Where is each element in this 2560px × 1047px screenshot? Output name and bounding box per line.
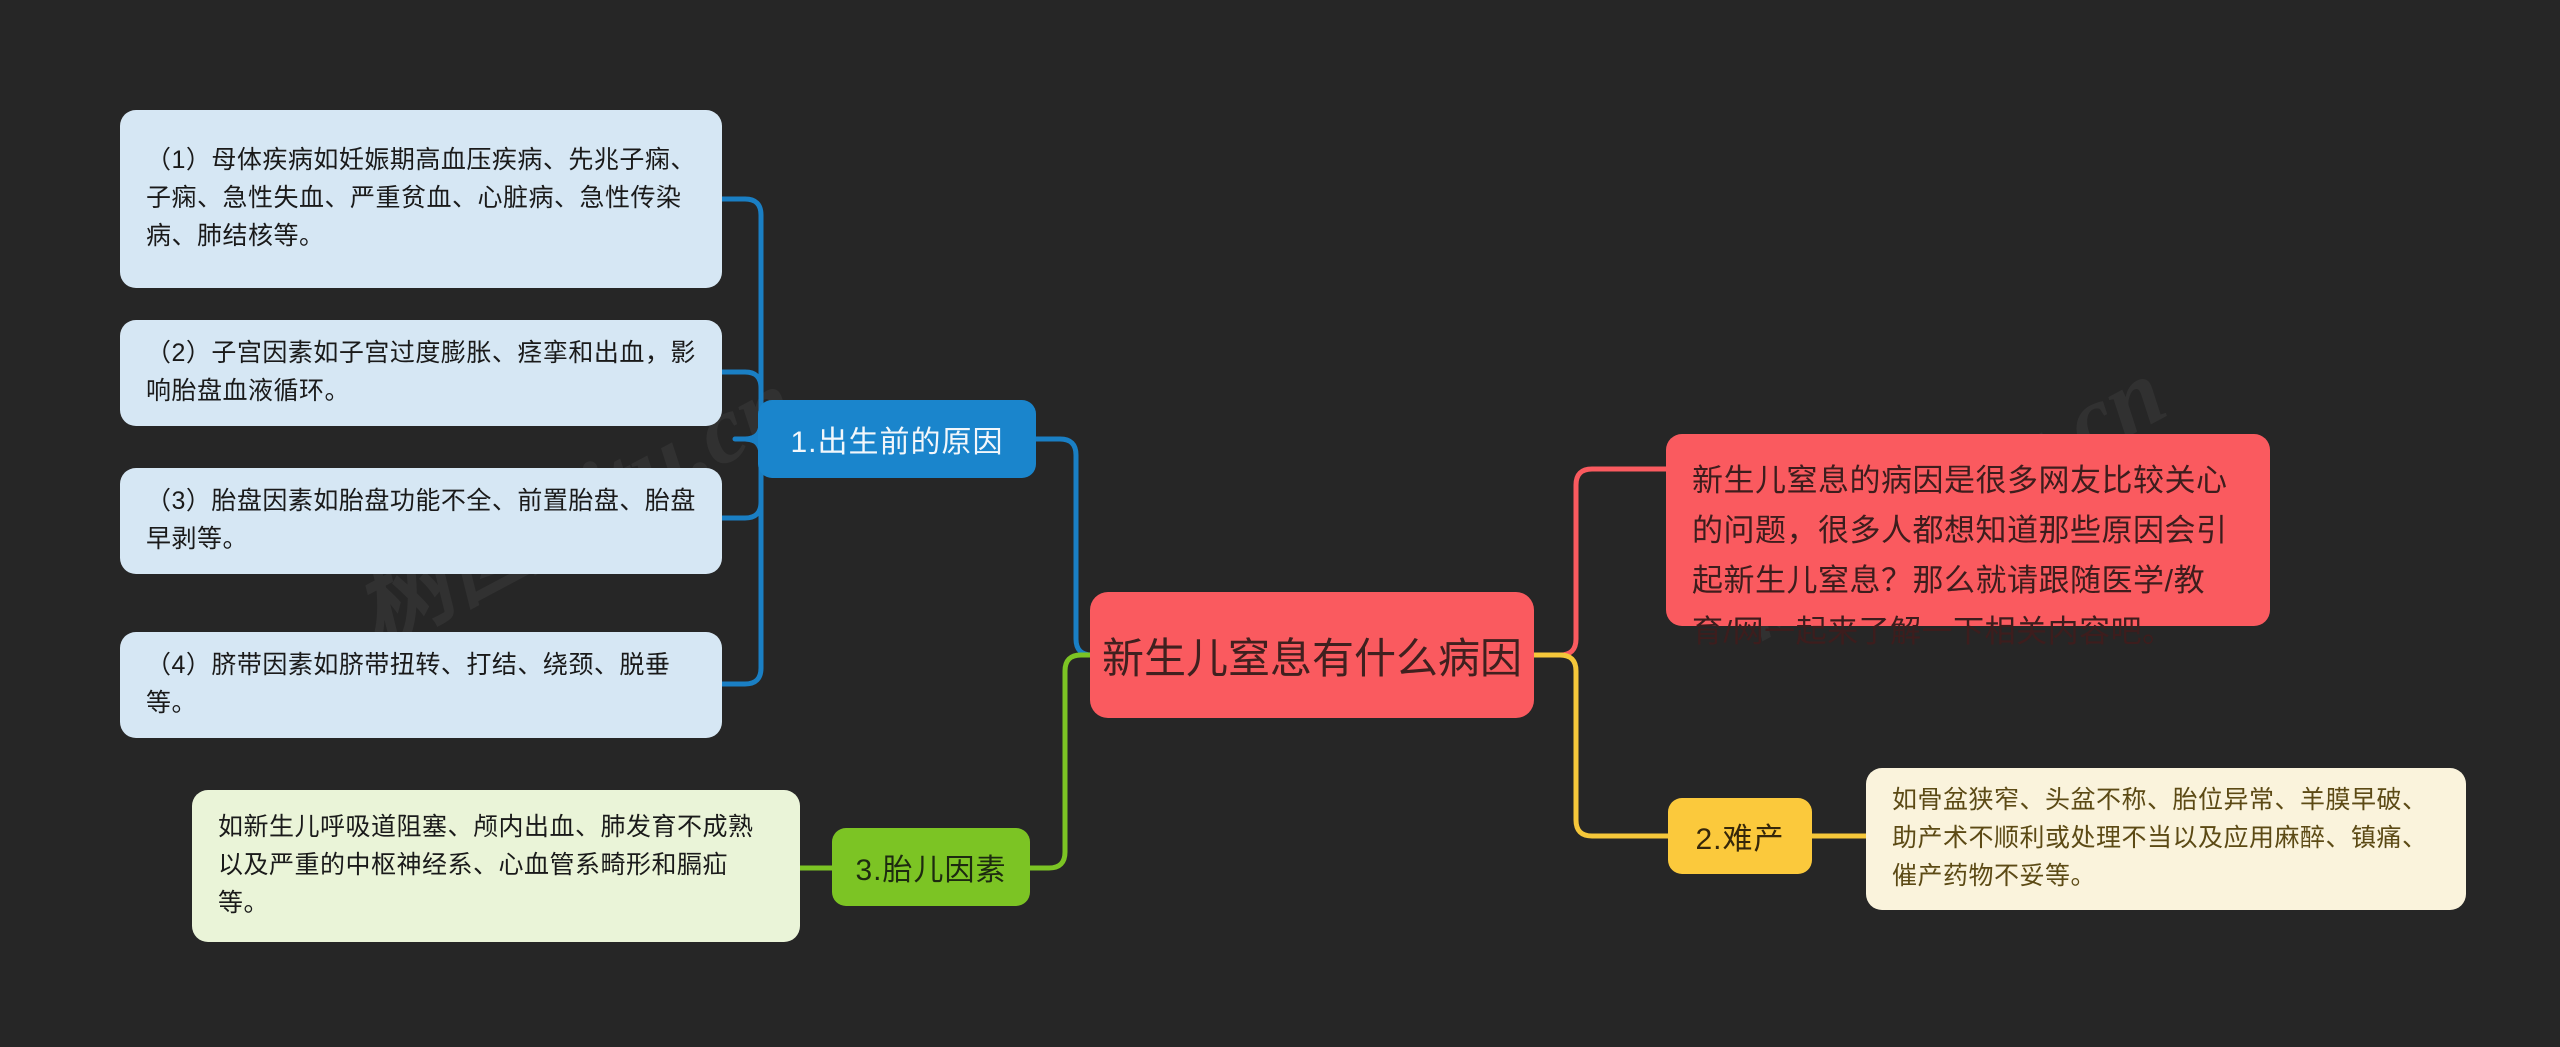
branch-node-dystocia-label: 2.难产 <box>1695 814 1784 858</box>
link-prenatal-leaf-2 <box>721 372 761 439</box>
leaf-prenatal-1-text: （1）母体疾病如妊娠期高血压疾病、先兆子痫、子痫、急性失血、严重贫血、心脏病、急… <box>146 141 696 255</box>
branch-node-prenatal-label: 1.出生前的原因 <box>790 417 1003 461</box>
leaf-prenatal-4[interactable]: （4）脐带因素如脐带扭转、打结、绕颈、脱垂等。 <box>120 632 722 738</box>
leaf-dystocia-1-text: 如骨盆狭窄、头盆不称、胎位异常、羊膜早破、助产术不顺利或处理不当以及应用麻醉、镇… <box>1892 781 2440 895</box>
leaf-prenatal-2-text: （2）子宫因素如子宫过度膨胀、痉挛和出血，影响胎盘血液循环。 <box>146 334 696 410</box>
link-prenatal-leaf-3 <box>721 439 761 518</box>
root-node[interactable]: 新生儿窒息有什么病因 <box>1090 592 1534 718</box>
link-prenatal-leaf-4 <box>721 439 761 684</box>
link-root-intro <box>1534 469 1668 655</box>
leaf-dystocia-1[interactable]: 如骨盆狭窄、头盆不称、胎位异常、羊膜早破、助产术不顺利或处理不当以及应用麻醉、镇… <box>1866 768 2466 910</box>
mindmap-canvas: 树图 situ.cn 树图 situ.cn （1）母体疾病如妊娠期高血 <box>0 0 2560 1047</box>
branch-node-fetal-label: 3.胎儿因素 <box>855 845 1006 889</box>
leaf-fetal-1[interactable]: 如新生儿呼吸道阻塞、颅内出血、肺发育不成熟以及严重的中枢神经系、心血管系畸形和膈… <box>192 790 800 942</box>
intro-box-text: 新生儿窒息的病因是很多网友比较关心的问题，很多人都想知道那些原因会引起新生儿窒息… <box>1692 456 2244 657</box>
link-root-fetal <box>1029 655 1098 868</box>
intro-box[interactable]: 新生儿窒息的病因是很多网友比较关心的问题，很多人都想知道那些原因会引起新生儿窒息… <box>1666 434 2270 626</box>
link-root-prenatal <box>1036 439 1092 655</box>
root-node-label: 新生儿窒息有什么病因 <box>1102 625 1522 686</box>
leaf-prenatal-4-text: （4）脐带因素如脐带扭转、打结、绕颈、脱垂等。 <box>146 646 696 722</box>
link-prenatal-leaf-1 <box>721 199 761 439</box>
leaf-prenatal-3-text: （3）胎盘因素如胎盘功能不全、前置胎盘、胎盘早剥等。 <box>146 482 696 558</box>
branch-node-dystocia[interactable]: 2.难产 <box>1668 798 1812 874</box>
link-root-dystocia <box>1534 655 1668 836</box>
branch-node-fetal[interactable]: 3.胎儿因素 <box>832 828 1030 906</box>
leaf-prenatal-1[interactable]: （1）母体疾病如妊娠期高血压疾病、先兆子痫、子痫、急性失血、严重贫血、心脏病、急… <box>120 110 722 288</box>
leaf-prenatal-3[interactable]: （3）胎盘因素如胎盘功能不全、前置胎盘、胎盘早剥等。 <box>120 468 722 574</box>
branch-node-prenatal[interactable]: 1.出生前的原因 <box>758 400 1036 478</box>
leaf-fetal-1-text: 如新生儿呼吸道阻塞、颅内出血、肺发育不成熟以及严重的中枢神经系、心血管系畸形和膈… <box>218 808 774 922</box>
leaf-prenatal-2[interactable]: （2）子宫因素如子宫过度膨胀、痉挛和出血，影响胎盘血液循环。 <box>120 320 722 426</box>
